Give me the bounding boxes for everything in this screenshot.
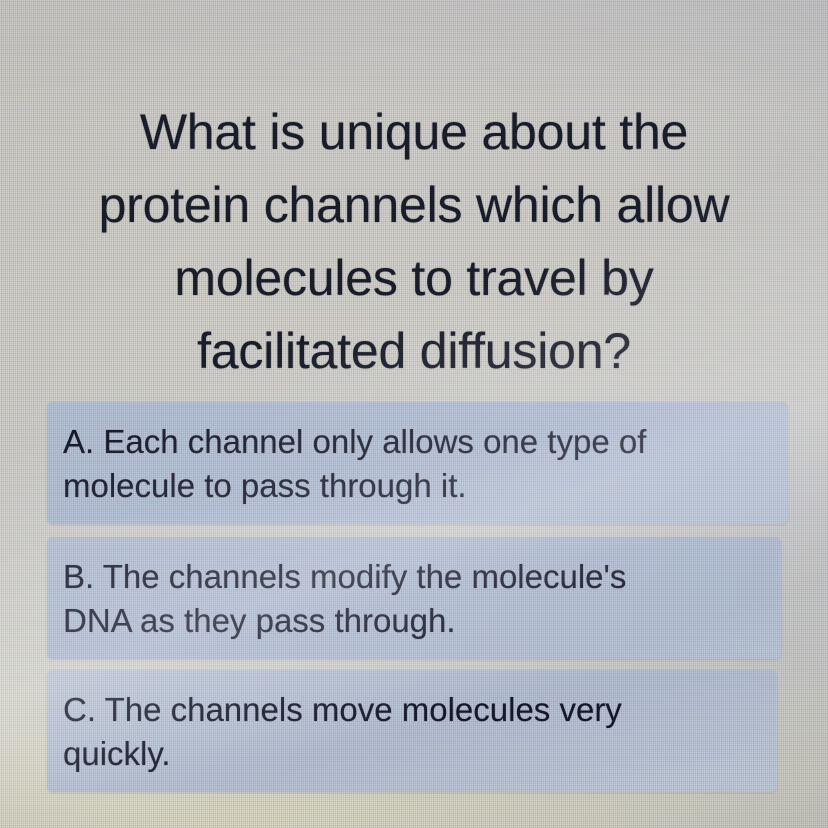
- answer-option-c[interactable]: C. The channels move molecules very quic…: [47, 670, 777, 792]
- question-line-1: What is unique about the: [26, 96, 802, 169]
- answer-option-a[interactable]: A. Each channel only allows one type of …: [47, 402, 788, 524]
- answer-option-c-line-2: quickly.: [63, 732, 757, 776]
- answer-option-b-line-2: DNA as they pass through.: [63, 599, 761, 643]
- question-content: What is unique about the protein channel…: [0, 0, 828, 828]
- question-line-3: molecules to travel by: [26, 242, 802, 315]
- answer-option-c-line-1: C. The channels move molecules very: [63, 688, 757, 732]
- question-line-4: facilitated diffusion?: [26, 315, 802, 388]
- question-line-2: protein channels which allow: [26, 169, 802, 242]
- answer-option-b[interactable]: B. The channels modify the molecule's DN…: [47, 537, 781, 659]
- question-stem: What is unique about the protein channel…: [0, 96, 828, 388]
- answer-options-list: A. Each channel only allows one type of …: [47, 402, 789, 792]
- answer-option-a-line-2: molecule to pass through it.: [63, 464, 768, 508]
- answer-option-b-line-1: B. The channels modify the molecule's: [63, 555, 761, 599]
- photographed-screen: What is unique about the protein channel…: [0, 0, 828, 828]
- answer-option-a-line-1: A. Each channel only allows one type of: [63, 420, 768, 464]
